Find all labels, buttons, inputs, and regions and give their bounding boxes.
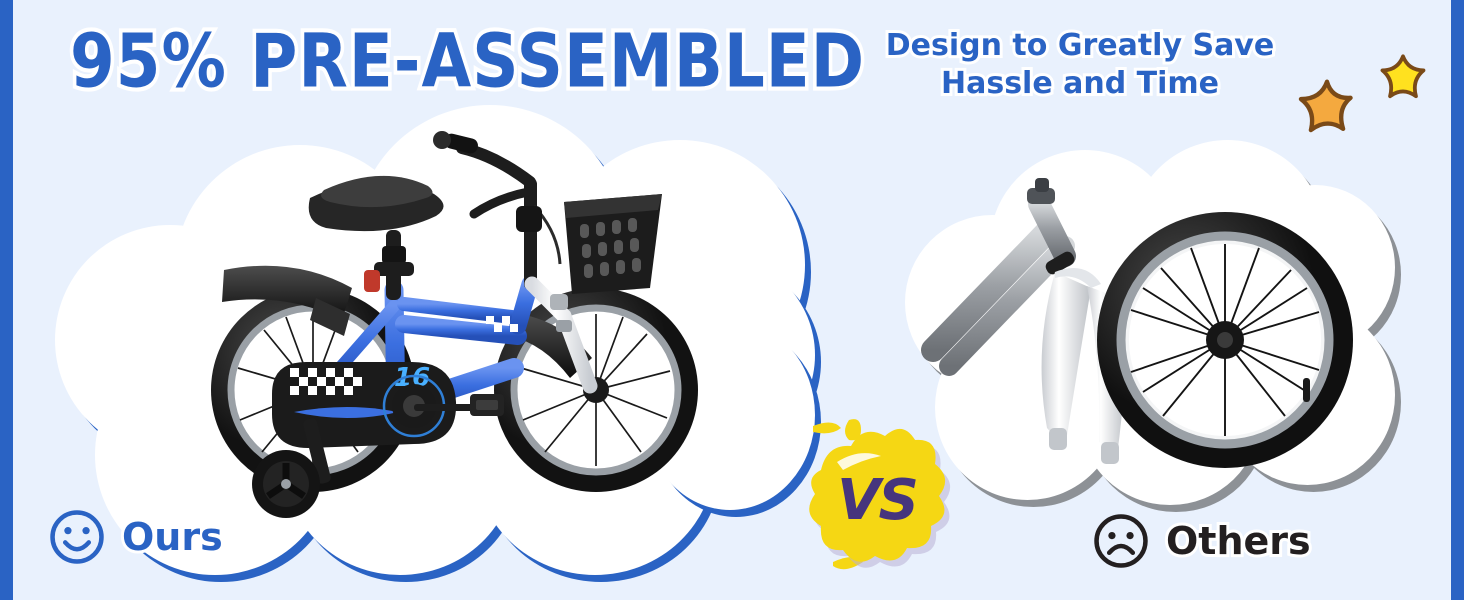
vs-label: VS: [797, 468, 957, 533]
vs-badge: VS: [797, 412, 957, 577]
right-edge-bar: [1451, 0, 1464, 600]
disassembled-parts-image: [915, 160, 1365, 510]
star-yellow-icon: [1376, 52, 1430, 106]
headline: 95% PRE-ASSEMBLED: [70, 18, 865, 104]
subheadline-line-1: Design to Greatly Save: [845, 27, 1315, 65]
subheadline: Design to Greatly Save Hassle and Time: [845, 27, 1315, 103]
star-orange-icon: [1296, 78, 1358, 140]
loose-wheel: [1097, 212, 1353, 468]
promo-banner: 16: [0, 0, 1464, 600]
handlebar: [433, 131, 560, 290]
sad-face-icon: [1092, 512, 1150, 570]
label-ours-text: Ours: [122, 515, 223, 559]
label-others: Others: [1092, 512, 1311, 570]
vs-droplet: [813, 422, 841, 433]
left-edge-bar: [0, 0, 13, 600]
front-basket: [564, 194, 662, 294]
assembled-bicycle-image: 16: [198, 118, 698, 523]
label-ours: Ours: [48, 508, 223, 566]
smiley-face-icon: [48, 508, 106, 566]
subheadline-line-2: Hassle and Time: [845, 65, 1315, 103]
label-others-text: Others: [1166, 519, 1311, 563]
